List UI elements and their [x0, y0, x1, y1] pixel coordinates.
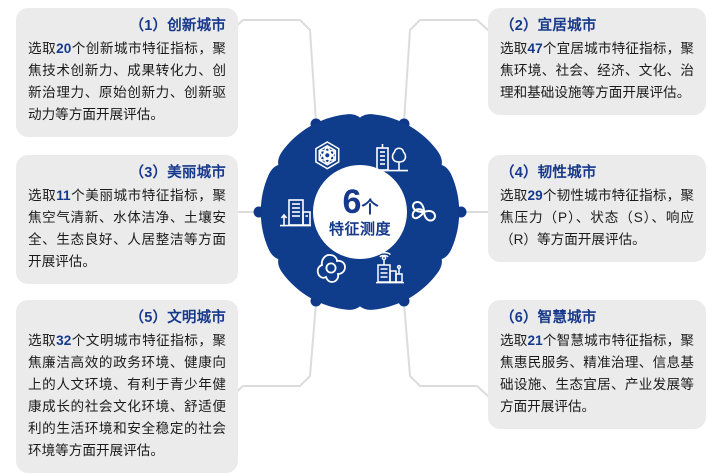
- card-title: （6）智慧城市: [500, 309, 694, 329]
- card-title: （3）美丽城市: [28, 164, 226, 184]
- card-metric-number: 29: [528, 188, 543, 203]
- card-body-prefix: 选取: [28, 188, 56, 203]
- card-body-prefix: 选取: [500, 333, 528, 348]
- card-body: 选取29个韧性城市特征指标，聚焦压力（P）、状态（S）、响应（R）等方面开展评估…: [500, 185, 694, 251]
- card-metric-number: 21: [528, 333, 543, 348]
- card-metric-number: 32: [56, 333, 71, 348]
- card-beautiful-city[interactable]: （3）美丽城市 选取11个美丽城市特征指标，聚焦空气清新、水体洁净、土壤安全、生…: [16, 155, 238, 284]
- card-title: （4）韧性城市: [500, 164, 694, 184]
- petal-ring-svg: [258, 104, 462, 320]
- card-body-suffix: 个文明城市特征指标，聚焦廉洁高效的政务环境、健康向上的人文环境、有利于青少年健康…: [28, 333, 226, 458]
- card-body: 选取20个创新城市特征指标，聚焦技术创新力、成果转化力、创新治理力、原始创新力、…: [28, 38, 226, 126]
- center-diagram: 6 个 特征测度: [258, 104, 462, 320]
- card-title: （5）文明城市: [28, 309, 226, 329]
- card-body-prefix: 选取: [500, 41, 528, 56]
- card-metric-number: 47: [528, 41, 543, 56]
- card-body: 选取21个智慧城市特征指标，聚焦惠民服务、精准治理、信息基础设施、生态宜居、产业…: [500, 330, 694, 418]
- card-title: （2）宜居城市: [500, 17, 694, 37]
- card-metric-number: 20: [56, 41, 71, 56]
- card-body-prefix: 选取: [500, 188, 528, 203]
- card-body-prefix: 选取: [28, 333, 56, 348]
- card-metric-number: 11: [56, 188, 70, 203]
- card-title: （1）创新城市: [28, 17, 226, 37]
- card-body: 选取11个美丽城市特征指标，聚焦空气清新、水体洁净、土壤安全、生态良好、人居整洁…: [28, 185, 226, 273]
- hub-disc: [313, 165, 407, 259]
- card-body: 选取32个文明城市特征指标，聚焦廉洁高效的政务环境、健康向上的人文环境、有利于青…: [28, 330, 226, 462]
- card-civilized-city[interactable]: （5）文明城市 选取32个文明城市特征指标，聚焦廉洁高效的政务环境、健康向上的人…: [16, 300, 238, 473]
- card-livable-city[interactable]: （2）宜居城市 选取47个宜居城市特征指标，聚焦环境、社会、经济、文化、治理和基…: [488, 8, 706, 115]
- card-body-prefix: 选取: [28, 41, 56, 56]
- infographic-stage: 6 个 特征测度 （1）创新城市 选取20个创新城市特征指标，聚焦技术创新力、成…: [0, 0, 720, 474]
- card-resilient-city[interactable]: （4）韧性城市 选取29个韧性城市特征指标，聚焦压力（P）、状态（S）、响应（R…: [488, 155, 706, 262]
- card-smart-city[interactable]: （6）智慧城市 选取21个智慧城市特征指标，聚焦惠民服务、精准治理、信息基础设施…: [488, 300, 706, 429]
- card-body: 选取47个宜居城市特征指标，聚焦环境、社会、经济、文化、治理和基础设施等方面开展…: [500, 38, 694, 104]
- card-innovation-city[interactable]: （1）创新城市 选取20个创新城市特征指标，聚焦技术创新力、成果转化力、创新治理…: [16, 8, 238, 137]
